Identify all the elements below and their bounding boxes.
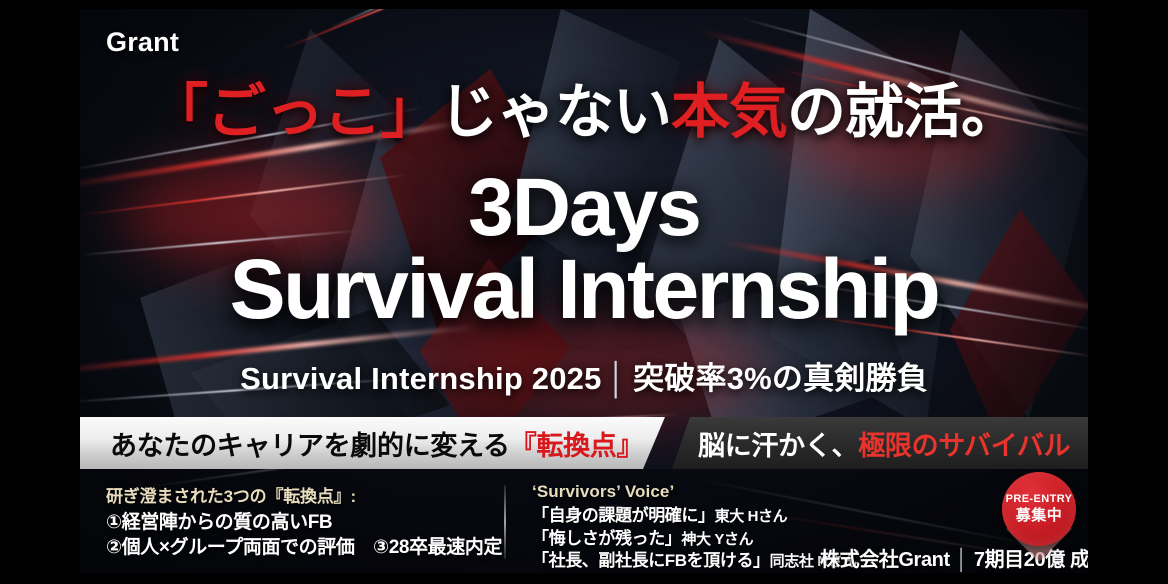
turning-point-item: ①経営陣からの質の高いFB <box>106 510 506 535</box>
corporate-divider: │ <box>950 549 974 571</box>
kicker-part-2: じゃない <box>439 79 671 145</box>
kicker-part-accent-1: 「ごっこ」 <box>149 79 439 145</box>
footer-divider <box>504 485 506 559</box>
subtitle-japanese: 突破率3%の真剣勝負 <box>633 361 928 396</box>
banner-right: 脳に汗かく、極限のサバイバル <box>672 417 1088 469</box>
banner-left-accent: 『転換点』 <box>510 424 644 463</box>
company-name: 株式会社Grant <box>820 549 950 571</box>
poster-stage: Grant 「ごっこ」じゃない本気の就活。 3Days Survival Int… <box>0 0 1168 584</box>
pre-entry-badge[interactable]: PRE-ENTRY 募集中 <box>998 472 1082 562</box>
banner-right-accent: 極限のサバイバル <box>858 424 1070 463</box>
voice-quote: 「悔しさが残った」 <box>532 529 681 548</box>
headline-kicker: 「ごっこ」じゃない本気の就活。 <box>80 83 1088 142</box>
kicker-part-4: の就活。 <box>787 79 1019 145</box>
footer-area: 研ぎ澄まされた3つの『転換点』: ①経営陣からの質の高いFB ②個人×グループ両… <box>80 469 1088 573</box>
banner-left: あなたのキャリアを劇的に変える『転換点』 <box>80 417 695 469</box>
voice-author: 東大 Hさん <box>715 508 788 525</box>
turning-points-title: 研ぎ澄まされた3つの『転換点』: <box>106 482 506 507</box>
banner-right-text: 脳に汗かく、 <box>698 424 858 463</box>
title-line-2: Survival Internship <box>80 247 1088 331</box>
footer-left-column: 研ぎ澄まされた3つの『転換点』: ①経営陣からの質の高いFB ②個人×グループ両… <box>106 482 506 561</box>
turning-point-item: ②個人×グループ両面での評価 ③28卒最速内定 <box>106 535 506 560</box>
badge-circle[interactable]: PRE-ENTRY 募集中 <box>1002 472 1076 546</box>
banner-left-text: あなたのキャリアを劇的に変える <box>110 424 510 463</box>
badge-label-jp: 募集中 <box>1016 507 1063 525</box>
poster-artwork: Grant 「ごっこ」じゃない本気の就活。 3Days Survival Int… <box>80 9 1088 573</box>
subtitle-english: Survival Internship 2025 <box>240 361 601 396</box>
brand-logo: Grant <box>106 27 179 58</box>
voice-quote: 「自身の課題が明確に」 <box>532 506 715 525</box>
badge-label-en: PRE-ENTRY <box>1006 493 1073 506</box>
subtitle-divider: │ <box>602 361 634 396</box>
voice-quote: 「社長、副社長にFBを頂ける」 <box>532 551 770 570</box>
voice-author: 神大 Yさん <box>681 531 753 548</box>
subtitle: Survival Internship 2025│突破率3%の真剣勝負 <box>80 353 1088 398</box>
title-line-1: 3Days <box>80 167 1088 249</box>
banner-strip: あなたのキャリアを劇的に変える『転換点』 脳に汗かく、極限のサバイバル <box>80 417 1088 469</box>
kicker-part-accent-3: 本気 <box>671 79 787 145</box>
